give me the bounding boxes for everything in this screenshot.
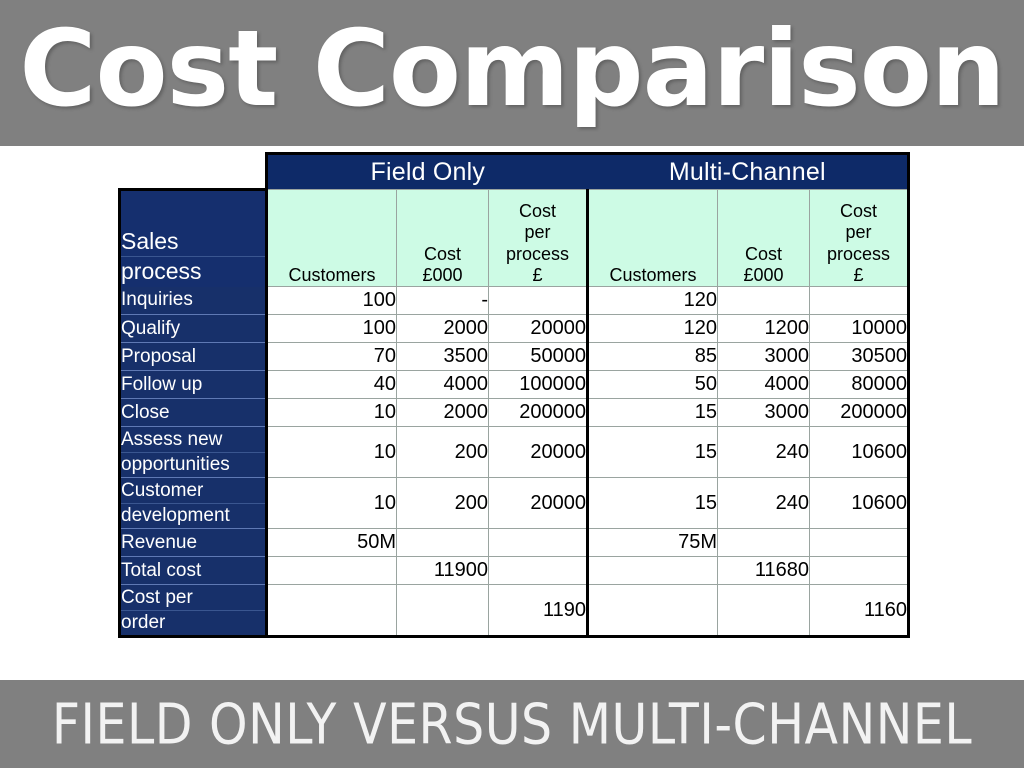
- row-label-line-1: Revenue: [121, 531, 265, 555]
- cell-field-cost: [397, 585, 489, 637]
- colheader-field-cost: Cost £000: [397, 190, 489, 287]
- cost-comparison-table: Field Only Multi-Channel Sales process C…: [118, 152, 910, 638]
- cell-field-cost-per-process: 200000: [489, 399, 588, 427]
- table-row: Close102000200000153000200000: [120, 399, 909, 427]
- cell-field-cost-per-process: [489, 287, 588, 315]
- row-label-line-1: Cost per: [121, 586, 265, 611]
- row-label: Revenue: [120, 529, 267, 557]
- caption-band: FIELD ONLY VERSUS MULTI-CHANNEL: [0, 680, 1024, 768]
- colheader-line-2: per: [489, 222, 586, 243]
- colheader-line-3: process: [810, 244, 907, 265]
- colheader-line-1: Cost: [810, 201, 907, 222]
- cell-multi-cost-per-process: [810, 287, 909, 315]
- row-label-line-1: Qualify: [121, 317, 265, 341]
- colheader-field-cost-per-process: Cost per process £: [489, 190, 588, 287]
- cell-field-customers: 10: [267, 478, 397, 529]
- cell-field-cost: 200: [397, 427, 489, 478]
- cell-multi-cost-per-process: 10000: [810, 315, 909, 343]
- cell-field-customers: 10: [267, 427, 397, 478]
- cell-field-customers: 100: [267, 315, 397, 343]
- row-label: Follow up: [120, 371, 267, 399]
- row-label-line-2: development: [121, 504, 265, 528]
- row-label-line-1: Customer: [121, 479, 265, 504]
- cell-field-cost-per-process: 20000: [489, 427, 588, 478]
- cell-multi-customers: 15: [588, 478, 718, 529]
- cell-multi-cost: 4000: [718, 371, 810, 399]
- row-label: Assess newopportunities: [120, 427, 267, 478]
- column-header-row: Sales process Customers Cost £000 Cost p…: [120, 190, 909, 287]
- cell-multi-cost-per-process: 1160: [810, 585, 909, 637]
- colheader-multi-customers: Customers: [588, 190, 718, 287]
- colheader-line-1: Cost: [397, 244, 488, 265]
- colheader-line-1: Cost: [718, 244, 809, 265]
- cell-multi-cost: [718, 287, 810, 315]
- row-label: Total cost: [120, 557, 267, 585]
- cell-field-cost: [397, 529, 489, 557]
- cell-field-cost: -: [397, 287, 489, 315]
- cell-multi-cost: 3000: [718, 399, 810, 427]
- cell-multi-cost: 240: [718, 427, 810, 478]
- cell-field-customers: 10: [267, 399, 397, 427]
- group-header-multi-channel: Multi-Channel: [588, 154, 909, 190]
- colheader-line-3: process: [489, 244, 586, 265]
- cell-field-cost-per-process: [489, 557, 588, 585]
- table-row: Proposal7035005000085300030500: [120, 343, 909, 371]
- cell-multi-cost-per-process: 30500: [810, 343, 909, 371]
- cost-comparison-table-wrapper: Field Only Multi-Channel Sales process C…: [118, 152, 910, 652]
- cell-multi-customers: 75M: [588, 529, 718, 557]
- row-label-line-1: Close: [121, 401, 265, 425]
- cell-field-customers: [267, 557, 397, 585]
- cell-multi-customers: 15: [588, 427, 718, 478]
- cell-multi-cost: 11680: [718, 557, 810, 585]
- table-row: Inquiries100-120: [120, 287, 909, 315]
- cell-multi-customers: 50: [588, 371, 718, 399]
- row-label: Customerdevelopment: [120, 478, 267, 529]
- cell-field-customers: [267, 585, 397, 637]
- cell-multi-customers: [588, 557, 718, 585]
- table-row: Follow up40400010000050400080000: [120, 371, 909, 399]
- row-label-line-1: Assess new: [121, 428, 265, 453]
- cell-field-cost: 4000: [397, 371, 489, 399]
- slide-caption: FIELD ONLY VERSUS MULTI-CHANNEL: [52, 696, 972, 752]
- cell-field-customers: 50M: [267, 529, 397, 557]
- row-label-line-2: order: [121, 611, 265, 635]
- cell-multi-cost: 240: [718, 478, 810, 529]
- colheader-line-2: per: [810, 222, 907, 243]
- corner-label-line-2: process: [121, 257, 265, 286]
- row-label-line-2: opportunities: [121, 453, 265, 477]
- row-label: Proposal: [120, 343, 267, 371]
- cell-field-cost-per-process: 50000: [489, 343, 588, 371]
- row-label-line-1: Follow up: [121, 373, 265, 397]
- cell-multi-cost: 3000: [718, 343, 810, 371]
- table-row: Qualify100200020000120120010000: [120, 315, 909, 343]
- cell-multi-customers: 15: [588, 399, 718, 427]
- cell-multi-cost-per-process: [810, 557, 909, 585]
- colheader-line-4: £: [489, 265, 586, 286]
- colheader-line-2: £000: [397, 265, 488, 286]
- colheader-multi-cost-per-process: Cost per process £: [810, 190, 909, 287]
- cell-field-cost: 2000: [397, 399, 489, 427]
- title-band: Cost Comparison: [0, 0, 1024, 146]
- cell-field-cost: 200: [397, 478, 489, 529]
- colheader-line-1: Cost: [489, 201, 586, 222]
- group-header-row: Field Only Multi-Channel: [120, 154, 909, 190]
- table-row: Cost perorder11901160: [120, 585, 909, 637]
- colheader-line-2: £000: [718, 265, 809, 286]
- cell-field-cost: 2000: [397, 315, 489, 343]
- table-row: Assess newopportunities10200200001524010…: [120, 427, 909, 478]
- colheader-line-4: £: [810, 265, 907, 286]
- cell-field-customers: 100: [267, 287, 397, 315]
- cell-multi-cost: [718, 529, 810, 557]
- cell-multi-cost-per-process: 200000: [810, 399, 909, 427]
- corner-label-line-1: Sales: [121, 227, 265, 257]
- group-header-field-only: Field Only: [267, 154, 588, 190]
- cell-field-customers: 70: [267, 343, 397, 371]
- colheader-line-1: Customers: [288, 265, 375, 285]
- row-label: Cost perorder: [120, 585, 267, 637]
- table-row: Customerdevelopment10200200001524010600: [120, 478, 909, 529]
- cell-field-cost-per-process: 20000: [489, 478, 588, 529]
- cell-multi-customers: 120: [588, 287, 718, 315]
- colheader-line-1: Customers: [610, 265, 697, 285]
- colheader-multi-cost: Cost £000: [718, 190, 810, 287]
- colheader-field-customers: Customers: [267, 190, 397, 287]
- cell-multi-cost-per-process: 80000: [810, 371, 909, 399]
- row-label-line-1: Inquiries: [121, 288, 265, 312]
- cell-field-cost-per-process: 100000: [489, 371, 588, 399]
- cell-field-cost-per-process: [489, 529, 588, 557]
- cell-multi-cost-per-process: 10600: [810, 427, 909, 478]
- cell-multi-cost: 1200: [718, 315, 810, 343]
- cell-multi-cost-per-process: [810, 529, 909, 557]
- cell-multi-customers: 85: [588, 343, 718, 371]
- cell-field-cost: 3500: [397, 343, 489, 371]
- row-label: Close: [120, 399, 267, 427]
- cell-field-customers: 40: [267, 371, 397, 399]
- row-label-line-1: Proposal: [121, 345, 265, 369]
- table-row: Revenue50M75M: [120, 529, 909, 557]
- slide: Cost Comparison Field Only Multi-Channel…: [0, 0, 1024, 768]
- sales-process-corner-cell: Sales process: [120, 190, 267, 287]
- cell-multi-cost-per-process: 10600: [810, 478, 909, 529]
- row-label: Inquiries: [120, 287, 267, 315]
- cell-multi-customers: 120: [588, 315, 718, 343]
- page-title: Cost Comparison: [19, 17, 1004, 130]
- table-row: Total cost1190011680: [120, 557, 909, 585]
- cell-field-cost-per-process: 20000: [489, 315, 588, 343]
- cell-multi-cost: [718, 585, 810, 637]
- row-label: Qualify: [120, 315, 267, 343]
- row-label-line-1: Total cost: [121, 559, 265, 583]
- cell-field-cost: 11900: [397, 557, 489, 585]
- cell-multi-customers: [588, 585, 718, 637]
- group-header-blank: [120, 154, 267, 190]
- cell-field-cost-per-process: 1190: [489, 585, 588, 637]
